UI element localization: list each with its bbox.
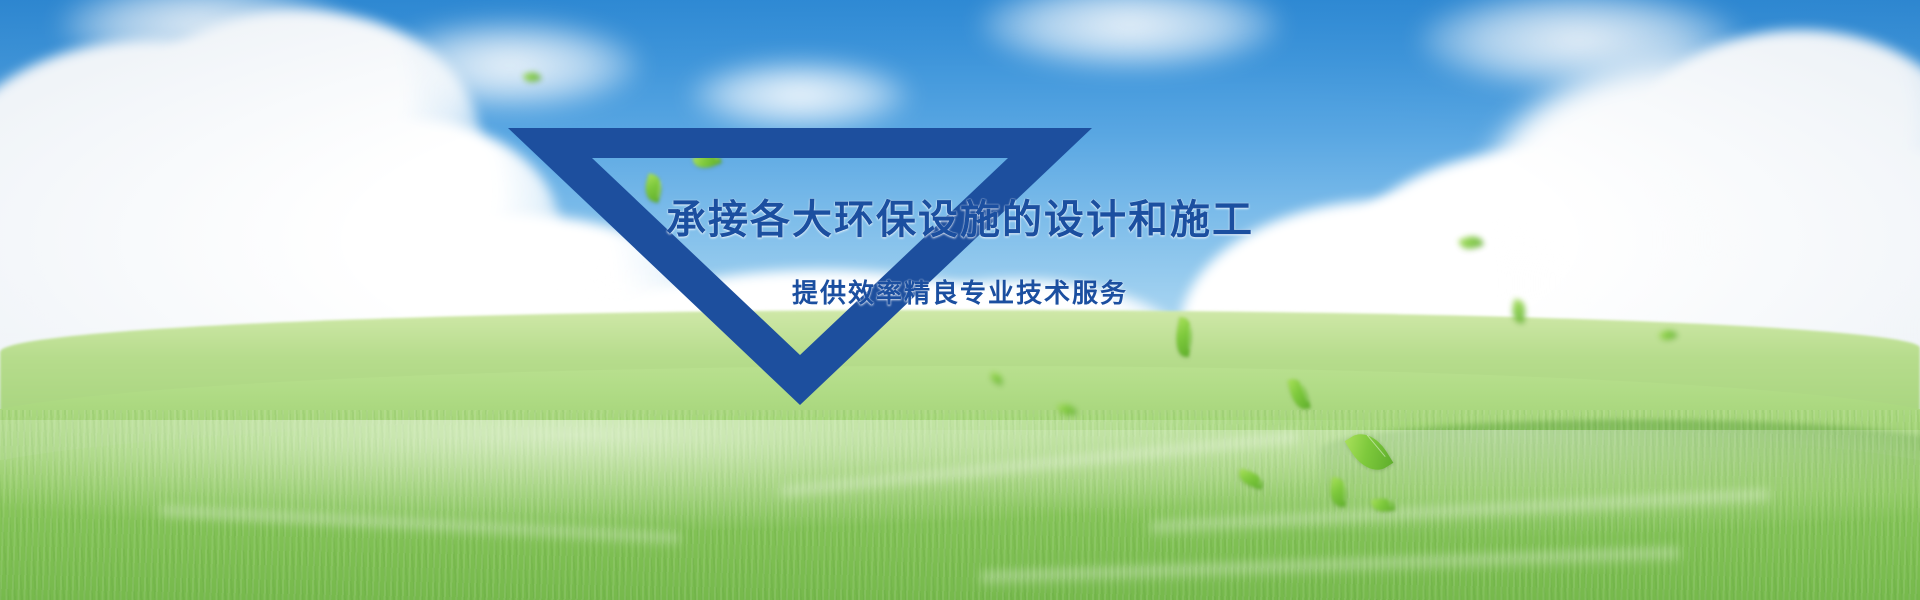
banner-copy: 承接各大环保设施的设计和施工 提供效率精良专业技术服务	[0, 196, 1920, 309]
page-title: 承接各大环保设施的设计和施工	[0, 196, 1920, 244]
hero-banner: 承接各大环保设施的设计和施工 提供效率精良专业技术服务	[0, 0, 1920, 600]
cloud-wisp	[690, 60, 910, 130]
grass-field	[0, 310, 1920, 600]
page-subtitle: 提供效率精良专业技术服务	[0, 278, 1920, 309]
cloud-wisp	[980, 0, 1280, 70]
